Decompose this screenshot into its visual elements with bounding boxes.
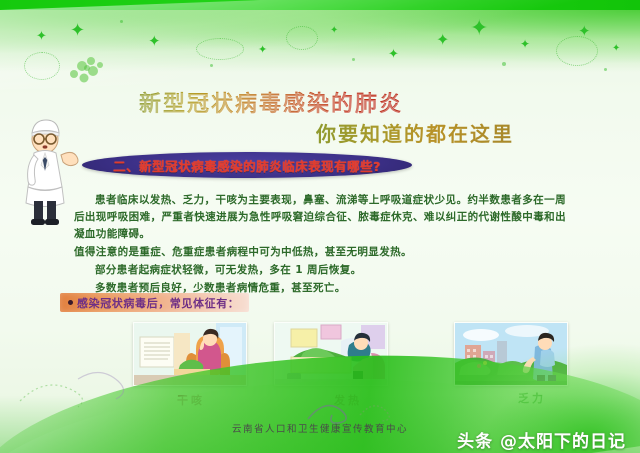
top-white-diagonal-wash — [0, 0, 640, 90]
page-title-line1: 新型冠状病毒感染的肺炎 — [139, 86, 403, 118]
watermark: 头条 @太阳下的日记 — [457, 427, 626, 452]
section-banner: 二、新型冠状病毒感染的肺炎临床表现有哪些? — [82, 152, 412, 178]
paragraph: 部分患者起病症状轻微，可无发热，多在 1 周后恢复。 — [74, 262, 566, 279]
poster-root: ✦ ✦ ✦ ✦ ✦ ✦ ✦ ✦ ✦ ✦ ✦ 新型冠状病毒感染的肺炎 你要知道的都… — [0, 0, 640, 453]
body-text-block: 患者临床以发热、乏力，干咳为主要表现，鼻塞、流涕等上呼吸道症状少见。约半数患者多… — [74, 192, 566, 298]
paragraph: 患者临床以发热、乏力，干咳为主要表现，鼻塞、流涕等上呼吸道症状少见。约半数患者多… — [74, 192, 566, 243]
section-banner-label: 二、新型冠状病毒感染的肺炎临床表现有哪些? — [82, 152, 412, 178]
common-signs-label: 感染冠状病毒后，常见体征有： — [77, 295, 239, 311]
bullet-icon — [68, 300, 73, 305]
page-title-line2: 你要知道的都在这里 — [316, 118, 514, 147]
common-signs-highlight-bar: 感染冠状病毒后，常见体征有： — [60, 293, 249, 312]
paragraph: 值得注意的是重症、危重症患者病程中可为中低热，甚至无明显发热。 — [74, 244, 566, 261]
